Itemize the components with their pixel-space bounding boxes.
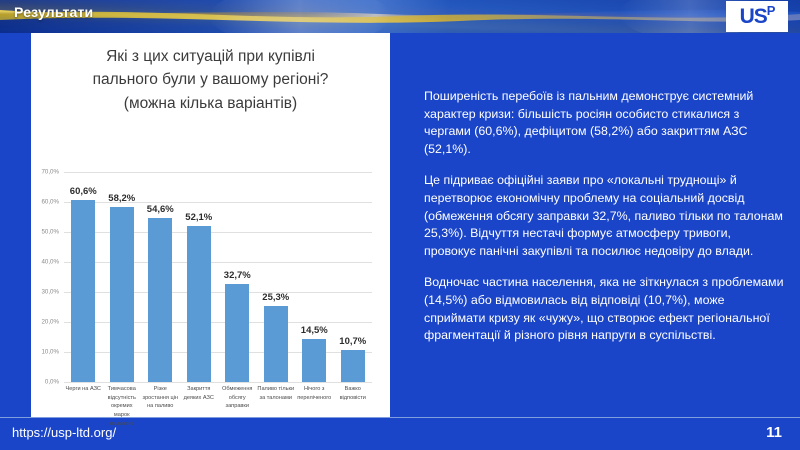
chart-title-line-1: Які з цих ситуацій при купівлі <box>31 45 390 68</box>
chart-bar-value-label: 52,1% <box>185 212 212 223</box>
chart-bar[interactable] <box>225 284 249 382</box>
chart-bar-value-label: 25,3% <box>262 292 289 303</box>
chart-x-tick-label: Обмеження обсягу заправки <box>218 385 257 428</box>
chart-bar[interactable] <box>187 226 211 382</box>
chart-x-tick-label: Тимчасова відсутність окремих марок паль… <box>103 385 142 428</box>
chart-bar[interactable] <box>264 306 288 382</box>
chart-title-line-2: пального були у вашому регіоні? <box>31 68 390 91</box>
chart-gridline <box>64 382 372 383</box>
logo-main: US <box>740 5 767 28</box>
chart-bar-value-label: 32,7% <box>224 270 251 281</box>
chart-bar-value-label: 54,6% <box>147 204 174 215</box>
chart-y-tick-label: 70,0% <box>41 169 59 176</box>
chart-y-tick-label: 50,0% <box>41 229 59 236</box>
chart-title-line-3: (можна кілька варіантів) <box>31 92 390 115</box>
chart-y-tick-label: 30,0% <box>41 289 59 296</box>
analysis-paragraph-3: Водночас частина населення, яка не зіткн… <box>424 274 786 344</box>
footer-url-link[interactable]: https://usp-ltd.org/ <box>12 425 116 440</box>
chart-bar-column: 32,7% <box>218 172 257 382</box>
chart-bar-column: 58,2% <box>103 172 142 382</box>
analysis-text-panel: Поширеність перебоїв із пальним демонстр… <box>424 88 786 345</box>
chart-bar-value-label: 10,7% <box>339 336 366 347</box>
chart-bar-column: 14,5% <box>295 172 334 382</box>
chart-bar-value-label: 58,2% <box>108 193 135 204</box>
chart-y-tick-label: 40,0% <box>41 259 59 266</box>
chart-y-tick-label: 10,0% <box>41 349 59 356</box>
chart-bar-column: 54,6% <box>141 172 180 382</box>
page-title: Результати <box>14 4 93 20</box>
analysis-paragraph-2: Це підриває офіційні заяви про «локальні… <box>424 172 786 260</box>
chart-y-tick-label: 20,0% <box>41 319 59 326</box>
chart-x-tick-label: Нічого з переліченого <box>295 385 334 428</box>
chart-bar[interactable] <box>148 218 172 382</box>
chart-bar-column: 60,6% <box>64 172 103 382</box>
page-number: 11 <box>766 424 782 441</box>
chart-y-tick-label: 0,0% <box>45 379 59 386</box>
chart-bar-value-label: 60,6% <box>70 186 97 197</box>
logo-text: USP <box>740 4 775 27</box>
chart-x-tick-label: Різке зростання цін на паливо <box>141 385 180 428</box>
chart-x-tick-label: Черги на АЗС <box>64 385 103 428</box>
analysis-paragraph-1: Поширеність перебоїв із пальним демонстр… <box>424 88 786 158</box>
chart-card: Які з цих ситуацій при купівлі пального … <box>31 33 390 417</box>
chart-title: Які з цих ситуацій при купівлі пального … <box>31 45 390 115</box>
logo-sup: P <box>767 3 775 18</box>
chart-bar[interactable] <box>341 350 365 382</box>
slide-header: Результати USP <box>0 0 800 33</box>
chart-bar-column: 10,7% <box>334 172 373 382</box>
chart-x-tick-label: Важко відповісти <box>334 385 373 428</box>
chart-x-axis-labels: Черги на АЗСТимчасова відсутність окреми… <box>64 385 372 428</box>
chart-x-tick-label: Закриття деяких АЗС <box>180 385 219 428</box>
chart-bar[interactable] <box>302 339 326 383</box>
chart-plot-area: 0,0%10,0%20,0%30,0%40,0%50,0%60,0%70,0% … <box>64 172 372 382</box>
chart-bar[interactable] <box>71 200 95 382</box>
chart-bars: 60,6%58,2%54,6%52,1%32,7%25,3%14,5%10,7% <box>64 172 372 382</box>
chart-bar-column: 25,3% <box>257 172 296 382</box>
chart-x-tick-label: Паливо тільки за талонами <box>257 385 296 428</box>
chart-bar[interactable] <box>110 207 134 382</box>
usp-logo[interactable]: USP <box>726 1 788 32</box>
chart-bar-value-label: 14,5% <box>301 325 328 336</box>
footer-divider <box>0 417 800 418</box>
chart-y-tick-label: 60,0% <box>41 199 59 206</box>
header-wave-graphic <box>0 0 800 33</box>
chart-bar-column: 52,1% <box>180 172 219 382</box>
